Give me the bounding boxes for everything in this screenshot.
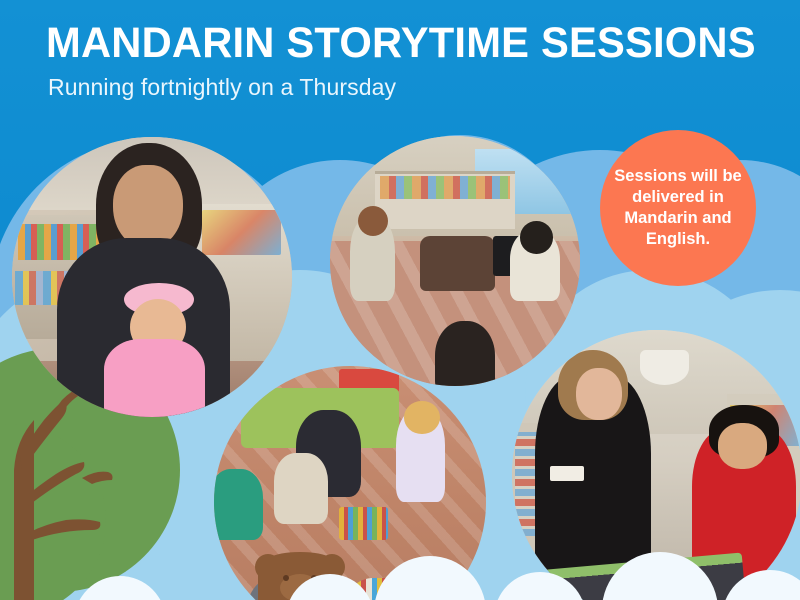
bottom-cloud-scallops <box>74 552 800 600</box>
mandarin-english-badge: Sessions will be delivered in Mandarin a… <box>600 130 756 286</box>
foreground-decorations <box>0 0 800 600</box>
badge-text: Sessions will be delivered in Mandarin a… <box>600 166 756 250</box>
poster: MANDARIN STORYTIME SESSIONS Running fort… <box>0 0 800 600</box>
